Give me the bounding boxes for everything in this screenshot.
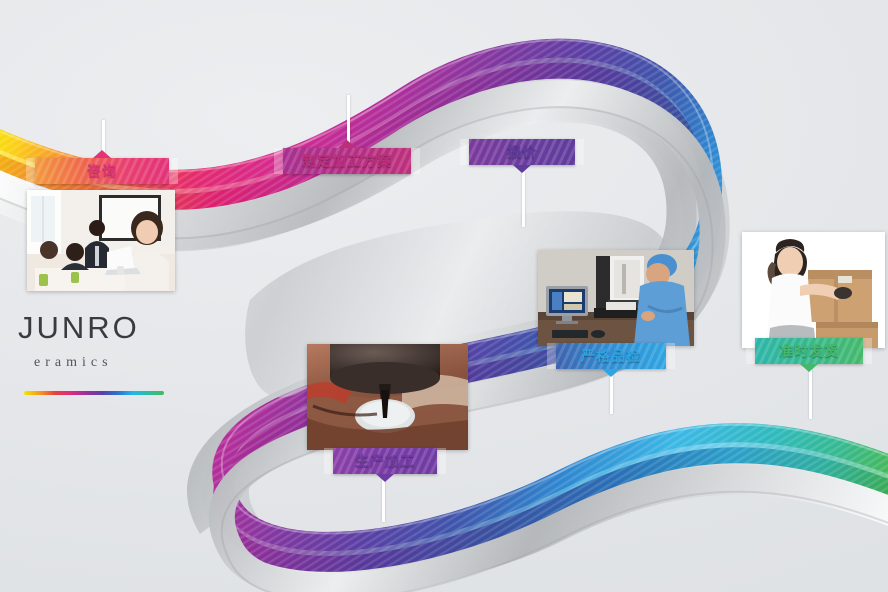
connector-stem-inspect — [610, 372, 613, 414]
step-label-inspect[interactable]: 严格品检 — [556, 343, 666, 369]
label-edge-right — [575, 139, 584, 165]
label-pointer-icon — [93, 150, 111, 158]
label-pointer-icon — [376, 474, 394, 482]
step-label-consult-text: 咨询 — [87, 163, 117, 179]
label-edge-left — [274, 148, 283, 174]
label-pointer-icon — [513, 165, 531, 173]
photo-production — [307, 344, 468, 450]
photo-consultation — [27, 190, 175, 291]
label-edge-left — [26, 158, 35, 184]
label-edge-left — [746, 338, 755, 364]
step-label-ship-text: 准时发货 — [779, 343, 839, 359]
brand-subtitle: eramics — [34, 355, 208, 371]
label-edge-left — [460, 139, 469, 165]
photo-shipping — [742, 232, 885, 348]
connector-stem-ship — [809, 367, 812, 419]
label-edge-right — [666, 343, 675, 369]
label-edge-right — [437, 448, 446, 474]
label-edge-right — [169, 158, 178, 184]
step-label-quote-text: 报价 — [507, 144, 537, 160]
packing-boxes-shipping-photo — [742, 232, 885, 348]
connector-stem-produce — [382, 477, 385, 522]
step-label-produce[interactable]: 生产加工 — [333, 448, 437, 474]
step-label-consult[interactable]: 咨询 — [35, 158, 169, 184]
label-pointer-icon — [602, 369, 620, 377]
step-label-inspect-text: 严格品检 — [581, 348, 641, 364]
label-pointer-icon — [338, 140, 356, 148]
step-label-ship[interactable]: 准时发货 — [755, 338, 863, 364]
cnc-machining-closeup-photo — [307, 344, 468, 450]
label-edge-left — [547, 343, 556, 369]
step-label-plan-text: 制定加工方案 — [302, 153, 392, 169]
step-label-produce-text: 生产加工 — [355, 453, 415, 469]
meeting-room-consultation-photo — [27, 190, 175, 291]
brand-lockup: JUNRO eramics — [18, 312, 208, 395]
step-label-plan[interactable]: 制定加工方案 — [283, 148, 411, 174]
label-edge-right — [863, 338, 872, 364]
label-pointer-icon — [800, 364, 818, 372]
label-edge-right — [411, 148, 420, 174]
label-edge-left — [324, 448, 333, 474]
brand-gradient-rule — [24, 391, 164, 395]
step-label-quote[interactable]: 报价 — [469, 139, 575, 165]
quality-inspection-lab-photo — [538, 250, 694, 346]
photo-inspection — [538, 250, 694, 346]
infographic-canvas: JUNRO eramics — [0, 0, 888, 592]
connector-stem-quote — [522, 172, 525, 227]
brand-name: JUNRO — [18, 312, 208, 343]
